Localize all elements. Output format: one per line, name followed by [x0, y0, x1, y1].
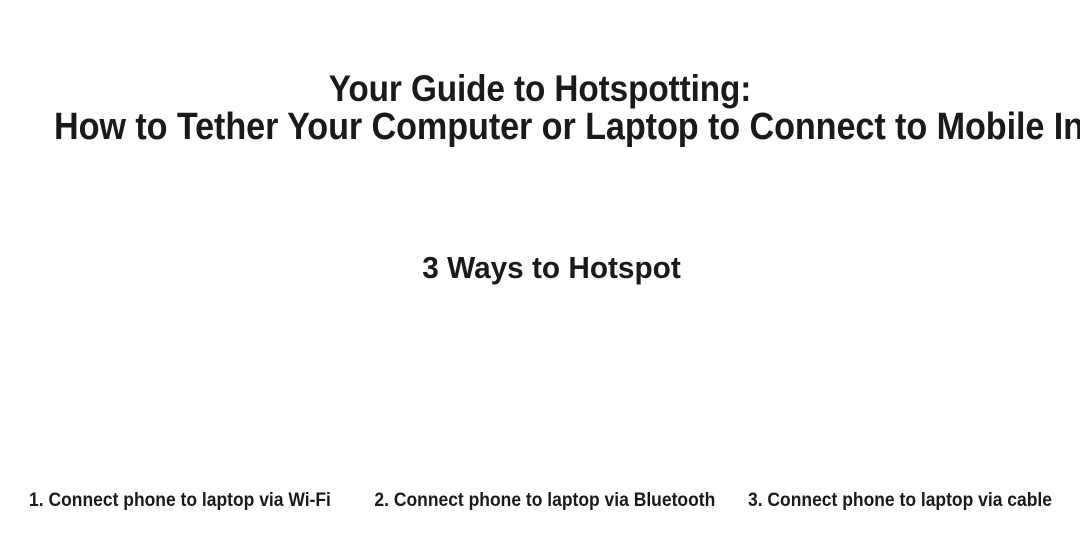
method-caption-cable: 3. Connect phone to laptop via cable	[734, 490, 1065, 512]
page-title-line-1: Your Guide to Hotspotting:	[54, 69, 1026, 108]
method-item-cable: 3. Connect phone to laptop via cable	[720, 290, 1080, 512]
section-heading-label: 3 Ways to Hotspot	[422, 250, 680, 286]
wifi-tethering-illustration	[15, 320, 345, 490]
page-title-line-2: How to Tether Your Computer or Laptop to…	[54, 108, 1026, 147]
methods-list: 1. Connect phone to laptop via Wi-Fi 2. …	[0, 290, 1080, 512]
method-item-wifi: 1. Connect phone to laptop via Wi-Fi	[0, 290, 360, 512]
page-title: Your Guide to Hotspotting: How to Tether…	[54, 69, 1026, 147]
method-item-bluetooth: 2. Connect phone to laptop via Bluetooth	[360, 290, 720, 512]
method-caption-bluetooth: 2. Connect phone to laptop via Bluetooth	[374, 490, 705, 512]
section-heading: 3 Ways to Hotspot	[22, 250, 1059, 286]
article-page: Your Guide to Hotspotting: How to Tether…	[0, 0, 1080, 552]
bluetooth-tethering-illustration	[375, 320, 705, 490]
cable-tethering-illustration	[735, 320, 1065, 490]
method-caption-wifi: 1. Connect phone to laptop via Wi-Fi	[14, 490, 345, 512]
